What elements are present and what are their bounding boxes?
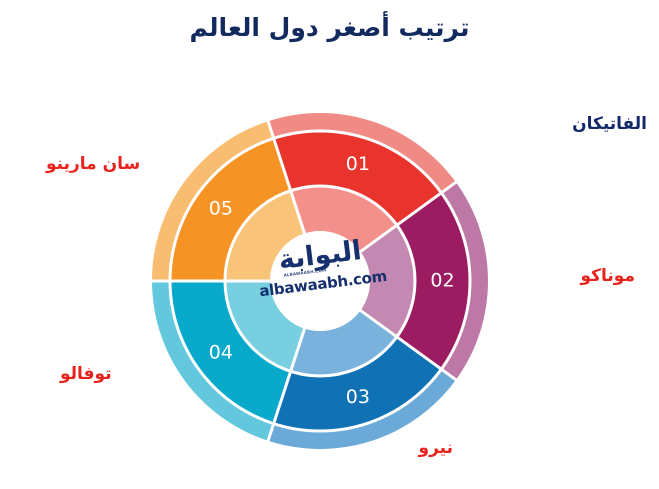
slice-rank-02: 02 — [430, 270, 454, 292]
slice-label-nauru: نيرو — [419, 440, 453, 457]
slice-label-sanmarino-text: سان مارينو — [46, 154, 140, 174]
slice-label-tuvalu: توفالو — [60, 366, 112, 383]
slice-label-sanmarino: سان مارينو — [46, 156, 140, 173]
slice-label-nauru-text: نيرو — [419, 438, 453, 458]
slice-label-vatican-text: الفاتيكان — [572, 114, 647, 134]
slice-label-monaco-text: موناكو — [581, 266, 636, 286]
slice-rank-04: 04 — [209, 342, 233, 364]
donut-center-hole — [270, 231, 370, 331]
donut-chart: 0102030405 — [0, 0, 659, 489]
slice-label-vatican: الفاتيكان — [572, 116, 647, 133]
slice-rank-03: 03 — [346, 386, 370, 408]
slice-rank-05: 05 — [209, 197, 233, 219]
slice-label-tuvalu-text: توفالو — [60, 364, 112, 384]
infographic-canvas: ترتيب أصغر دول العالم 0102030405 البوابة… — [0, 0, 659, 489]
slice-rank-01: 01 — [346, 153, 370, 175]
slice-label-monaco: موناكو — [581, 268, 636, 285]
